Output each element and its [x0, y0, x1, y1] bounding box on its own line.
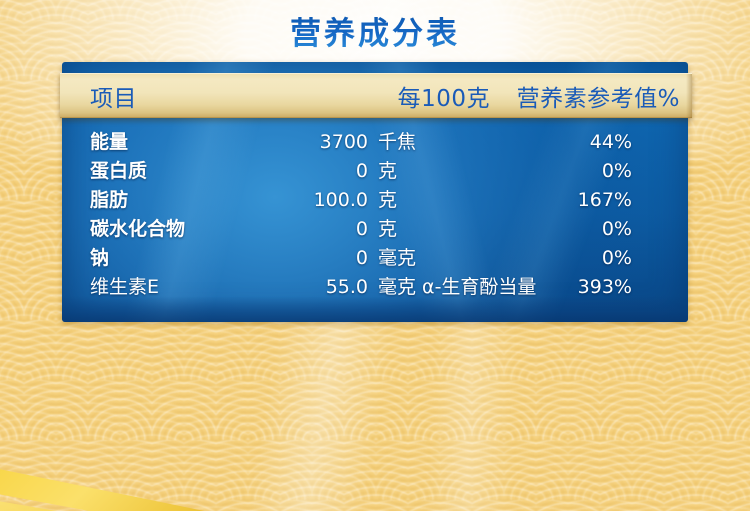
table-row: 脂肪100.0克167%	[62, 186, 688, 215]
header-col-nrv: 营养素参考值%	[517, 79, 680, 113]
row-unit: 克	[378, 157, 397, 186]
table-row: 碳水化合物0克0%	[62, 215, 688, 244]
row-value: 0	[212, 157, 368, 186]
row-unit: 克	[378, 186, 397, 215]
row-label: 能量	[90, 128, 128, 157]
table-body: 能量3700千焦44%蛋白质0克0%脂肪100.0克167%碳水化合物0克0%钠…	[62, 128, 688, 302]
row-nrv: 44%	[590, 128, 632, 157]
table-row: 蛋白质0克0%	[62, 157, 688, 186]
row-unit: 毫克	[378, 244, 416, 273]
page-title: 营养成分表	[0, 8, 750, 53]
row-label: 钠	[90, 244, 109, 273]
row-unit: 千焦	[378, 128, 416, 157]
row-value: 0	[212, 244, 368, 273]
row-label: 维生素E	[90, 273, 159, 302]
row-nrv: 393%	[578, 273, 632, 302]
table-row: 维生素E55.0毫克 α-生育酚当量393%	[62, 273, 688, 302]
row-label: 蛋白质	[90, 157, 147, 186]
row-nrv: 0%	[602, 244, 632, 273]
nutrition-label-screen: 营养成分表 项目 每100克 营养素参考值% 能量3700千焦44%蛋白质0克0…	[0, 0, 750, 511]
table-header-band: 项目 每100克 营养素参考值%	[60, 73, 692, 118]
corner-ribbon-decoration	[0, 381, 470, 511]
row-value: 3700	[212, 128, 368, 157]
table-row: 能量3700千焦44%	[62, 128, 688, 157]
row-nrv: 167%	[578, 186, 632, 215]
row-nrv: 0%	[602, 215, 632, 244]
row-label: 碳水化合物	[90, 215, 185, 244]
header-col-per-100g: 每100克	[318, 79, 490, 113]
row-unit: 克	[378, 215, 397, 244]
ribbon-svg	[0, 401, 530, 511]
table-header-row: 项目 每100克 营养素参考值%	[60, 74, 692, 118]
row-nrv: 0%	[602, 157, 632, 186]
header-col-item: 项目	[90, 79, 137, 113]
row-unit: 毫克 α-生育酚当量	[378, 273, 536, 302]
row-value: 55.0	[212, 273, 368, 302]
table-row: 钠0毫克0%	[62, 244, 688, 273]
row-label: 脂肪	[90, 186, 128, 215]
row-value: 100.0	[212, 186, 368, 215]
row-value: 0	[212, 215, 368, 244]
